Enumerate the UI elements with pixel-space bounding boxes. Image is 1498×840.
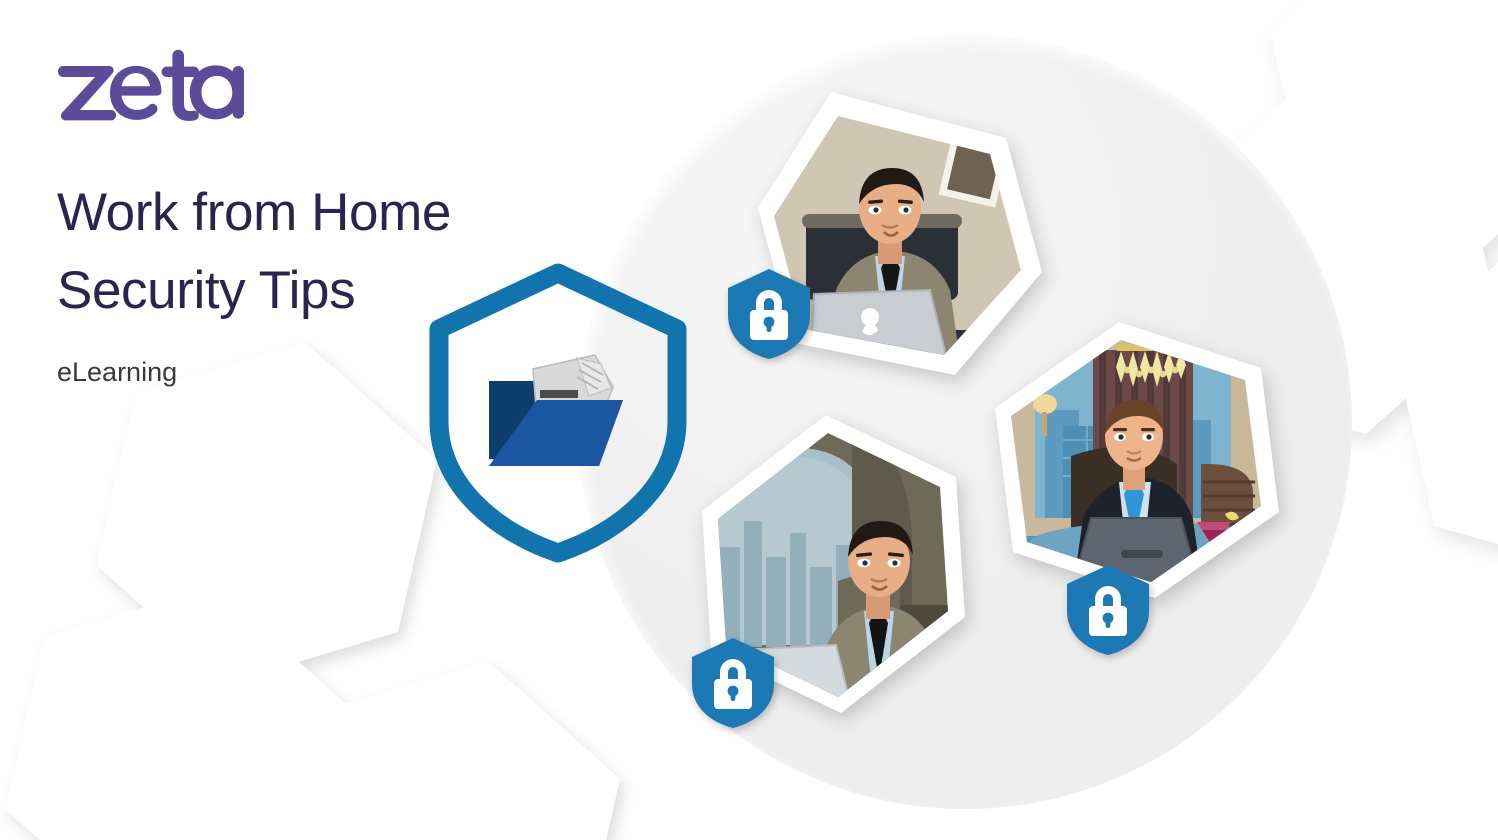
lock-shield-badge-bottom-left — [687, 635, 779, 731]
slide-canvas: Work from Home Security Tips eLearning — [0, 0, 1498, 840]
lock-shield-badge-right — [1062, 562, 1154, 658]
shield-folder-icon — [427, 263, 689, 563]
zeta-logo — [57, 48, 617, 128]
lock-shield-badge-top — [723, 266, 815, 362]
